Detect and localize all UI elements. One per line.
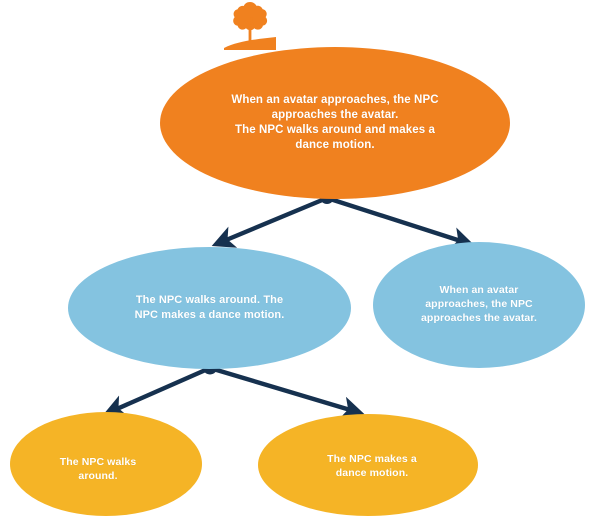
node-mid-right[interactable]: When an avatar approaches, the NPC appro…: [373, 242, 585, 368]
edge-mid-to-leaf-right: [210, 368, 357, 412]
node-root[interactable]: When an avatar approaches, the NPC appro…: [160, 47, 510, 199]
node-root-label: When an avatar approaches, the NPC appro…: [209, 93, 461, 154]
diagram-canvas: When an avatar approaches, the NPC appro…: [0, 0, 600, 520]
edge-root-to-mid-right: [327, 198, 467, 243]
node-mid-left-label: The NPC walks around. The NPC makes a da…: [105, 293, 314, 322]
edge-mid-to-leaf-left: [110, 368, 210, 412]
node-leaf-right[interactable]: The NPC makes a dance motion.: [258, 414, 478, 516]
node-leaf-left-label: The NPC walks around.: [29, 456, 167, 484]
node-mid-right-label: When an avatar approaches, the NPC appro…: [396, 284, 561, 326]
node-leaf-right-label: The NPC makes a dance motion.: [293, 453, 451, 481]
edge-root-to-mid-left: [219, 198, 327, 243]
node-mid-left[interactable]: The NPC walks around. The NPC makes a da…: [68, 247, 351, 369]
tree-icon: [224, 0, 276, 50]
node-leaf-left[interactable]: The NPC walks around.: [10, 412, 202, 516]
